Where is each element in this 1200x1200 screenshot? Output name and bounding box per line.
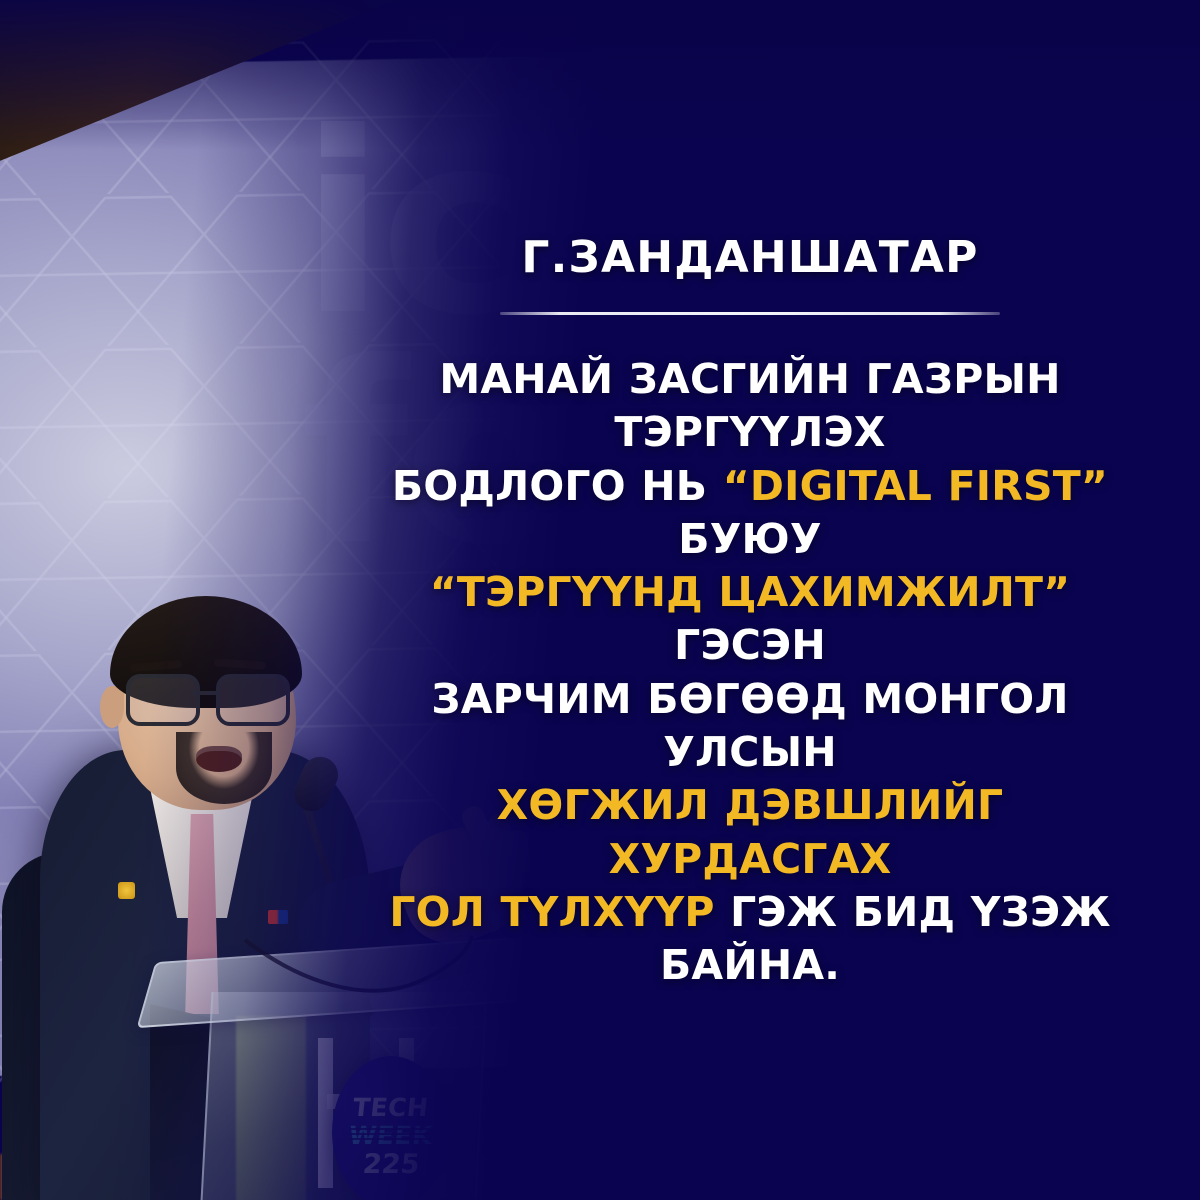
quote-text-block: Г.ЗАНДАНШАТАР МАНАЙ ЗАСГИЙН ГАЗРЫН ТЭРГҮ… [380,236,1120,993]
quote-highlight-run: “ТЭРГҮҮНД ЦАХИМЖИЛТ” [430,568,1071,616]
quote-plain-run: МАНАЙ ЗАСГИЙН ГАЗРЫН ТЭРГҮҮЛЭХ [439,355,1060,456]
quote-plain-run: ЗАРЧИМ БӨГӨӨД МОНГОЛ УЛСЫН [431,675,1068,776]
quote-body: МАНАЙ ЗАСГИЙН ГАЗРЫН ТЭРГҮҮЛЭХБОДЛОГО НЬ… [380,353,1120,993]
quote-plain-run: БОДЛОГО НЬ [392,462,723,510]
quote-highlight-run: “DIGITAL FIRST” [723,462,1108,510]
quote-plain-run: ГЭЖ БИД ҮЗЭЖ [715,888,1111,936]
quote-card-root: ic fo [0,0,1200,1200]
quote-plain-run: ГЭСЭН [674,621,826,669]
speaker-name: Г.ЗАНДАНШАТАР [380,236,1120,280]
divider-rule [500,312,1000,315]
quote-highlight-run: ГОЛ ТҮЛХҮҮР [389,888,714,936]
quote-highlight-run: ХӨГЖИЛ ДЭВШЛИЙГ ХУРДАСГАХ [497,781,1004,882]
quote-plain-run: БАЙНА. [660,941,840,989]
quote-plain-run: БУЮУ [678,515,821,563]
navy-top-fade [0,0,1200,150]
